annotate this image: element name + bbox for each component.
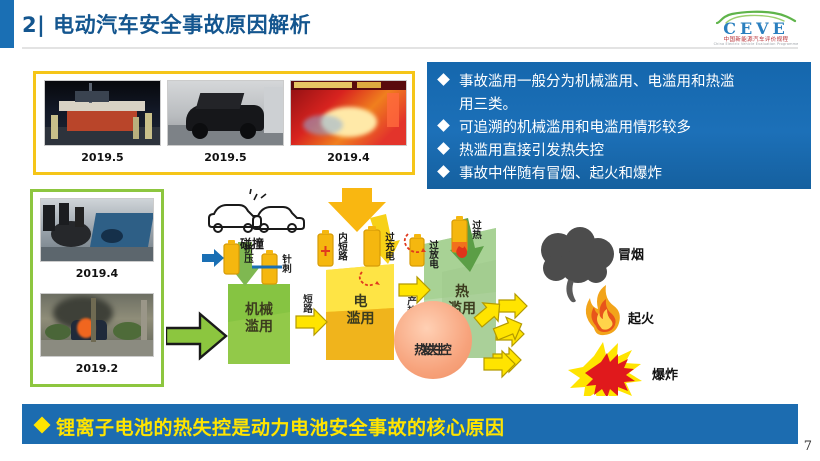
battery-crush-icon (202, 240, 239, 274)
bullet-item: 事故滥用一般分为机械滥用、电滥用和热滥 (433, 71, 801, 94)
arrow-to-runaway-1 (499, 294, 527, 318)
photo-group-left: 2019.4 2019.2 (30, 189, 164, 387)
key-points-panel: 事故滥用一般分为机械滥用、电滥用和热滥 用三类。 可追溯的机械滥用和电滥用情形较… (427, 62, 811, 189)
header-divider (22, 47, 798, 49)
label-overcharge: 过充电 (381, 232, 395, 261)
photo-item[interactable]: 2019.5 (44, 80, 161, 164)
thermal-camera-fire-photo (290, 80, 407, 146)
page-title: 2| 电动汽车安全事故原因解析 (22, 9, 311, 39)
photo-item[interactable]: 2019.4 (290, 80, 407, 164)
diamond-bullet-icon (34, 417, 51, 434)
explosion-burst-icon (568, 342, 642, 396)
conclusion-banner: 锂离子电池的热失控是动力电池安全事故的核心原因 (22, 404, 798, 444)
conclusion-text: 锂离子电池的热失控是动力电池安全事故的核心原因 (56, 413, 505, 440)
page-number: 7 (804, 439, 812, 454)
bullet-item: 热滥用直接引发热失控 (433, 140, 801, 163)
abuse-to-thermal-runaway-diagram: 碰撞 挤压 针刺 内短路 过充电 过放电 过热 机械滥用 电滥用 热滥用 短路 … (166, 188, 806, 396)
photo-caption: 2019.5 (167, 151, 284, 164)
thermal-runaway-node: 热失控发生 (394, 301, 472, 379)
ceve-logo: CEVE 中国新能源汽车评价规程 China Electric Vehicle … (704, 11, 808, 45)
bullet-text: 热滥用直接引发热失控 (459, 143, 604, 159)
outcome-label-fire: 起火 (628, 308, 654, 327)
outcome-label-smoke: 冒烟 (618, 244, 644, 263)
photo-item[interactable]: 2019.5 (167, 80, 284, 164)
roadside-burning-car-photo (40, 293, 154, 357)
label-nail-penetration: 针刺 (278, 254, 292, 273)
label-internal-short: 内短路 (334, 232, 348, 261)
photo-caption: 2019.2 (40, 362, 154, 375)
photo-caption: 2019.4 (40, 267, 154, 280)
diamond-bullet-icon (437, 142, 450, 155)
photo-item[interactable]: 2019.4 (40, 198, 154, 280)
label-crush: 挤压 (240, 244, 254, 263)
stage-label-electrical: 电滥用 (327, 294, 394, 328)
diamond-bullet-icon (437, 73, 450, 86)
diamond-bullet-icon (437, 165, 450, 178)
battery-overheat-icon (452, 216, 467, 258)
bullet-text: 事故中伴随有冒烟、起火和爆炸 (459, 166, 662, 182)
two-cars-collision-icon (209, 189, 304, 232)
battery-internal-short-icon (318, 230, 333, 266)
flame-icon (586, 285, 620, 335)
label-overheat: 过热 (468, 220, 482, 239)
bullet-text: 事故滥用一般分为机械滥用、电滥用和热滥 (459, 74, 735, 90)
photo-group-top: 2019.5 2019.5 2019.4 (33, 71, 415, 175)
diamond-bullet-icon (437, 119, 450, 132)
logo-subtitle-en: China Electric Vehicle Evaluation Progra… (704, 42, 808, 46)
green-outline-right-arrow (166, 314, 226, 358)
battery-overdischarge-icon (405, 234, 426, 266)
slide-header: 2| 电动汽车安全事故原因解析 CEVE 中国新能源汽车评价规程 China E… (0, 0, 820, 50)
label-overdischarge: 过放电 (425, 240, 439, 269)
photo-caption: 2019.5 (44, 151, 161, 164)
outcome-label-explosion: 爆炸 (652, 364, 678, 383)
night-crane-recovery-photo (44, 80, 161, 146)
wrecked-burnt-vehicle-photo (40, 198, 154, 262)
bullet-continuation: 用三类。 (433, 94, 801, 117)
bullet-text: 可追溯的机械滥用和电滥用情形较多 (459, 120, 691, 136)
garage-burnt-car-photo (167, 80, 284, 146)
bullet-item: 事故中伴随有冒烟、起火和爆炸 (433, 163, 801, 186)
photo-item[interactable]: 2019.2 (40, 293, 154, 375)
stage-label-mechanical: 机械滥用 (228, 302, 290, 336)
connector-label-short-circuit: 短路 (299, 294, 313, 313)
bullet-item: 可追溯的机械滥用和电滥用情形较多 (433, 117, 801, 140)
photo-caption: 2019.4 (290, 151, 407, 164)
